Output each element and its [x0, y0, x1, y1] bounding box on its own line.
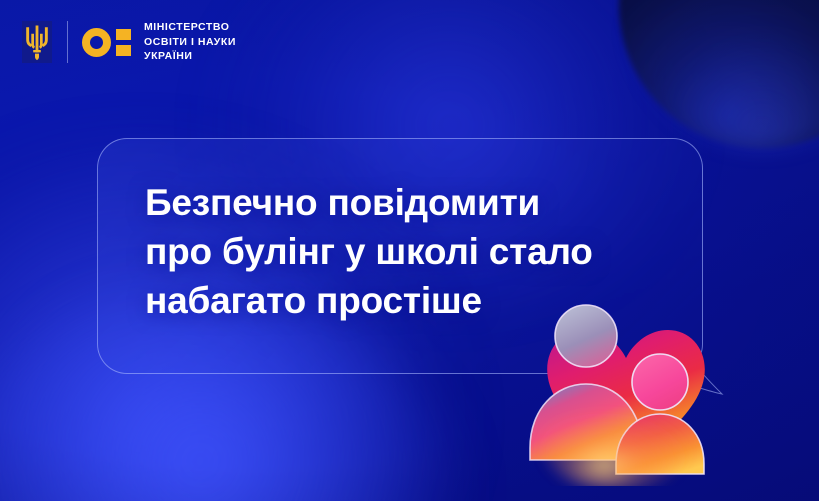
mon-logo-bars: [116, 29, 131, 56]
mon-logo-bar-top: [116, 29, 131, 40]
ministry-name: МІНІСТЕРСТВООСВІТИ І НАУКИУКРАЇНИ: [144, 20, 236, 65]
warm-glow-highlight: [544, 402, 688, 486]
mon-logo-bar-bottom: [116, 45, 131, 56]
mon-logo-ring: [82, 28, 111, 57]
banner-canvas: МІНІСТЕРСТВООСВІТИ І НАУКИУКРАЇНИ Безпеч…: [0, 0, 819, 501]
ministry-name-line-2: ОСВІТИ І НАУКИ: [144, 36, 236, 48]
ukraine-trident-icon: [22, 21, 52, 63]
heart-with-two-people-illustration: [520, 296, 740, 486]
headline-line-1: Безпечно повідомити: [145, 178, 705, 227]
ministry-name-line-1: МІНІСТЕРСТВО: [144, 21, 229, 33]
ministry-name-line-3: УКРАЇНИ: [144, 50, 192, 62]
ministry-logo-lockup: МІНІСТЕРСТВООСВІТИ І НАУКИУКРАЇНИ: [22, 14, 236, 70]
logo-divider: [67, 21, 68, 63]
headline-line-2: про булінг у школі стало: [145, 227, 705, 276]
mon-logo-icon: [82, 28, 131, 57]
